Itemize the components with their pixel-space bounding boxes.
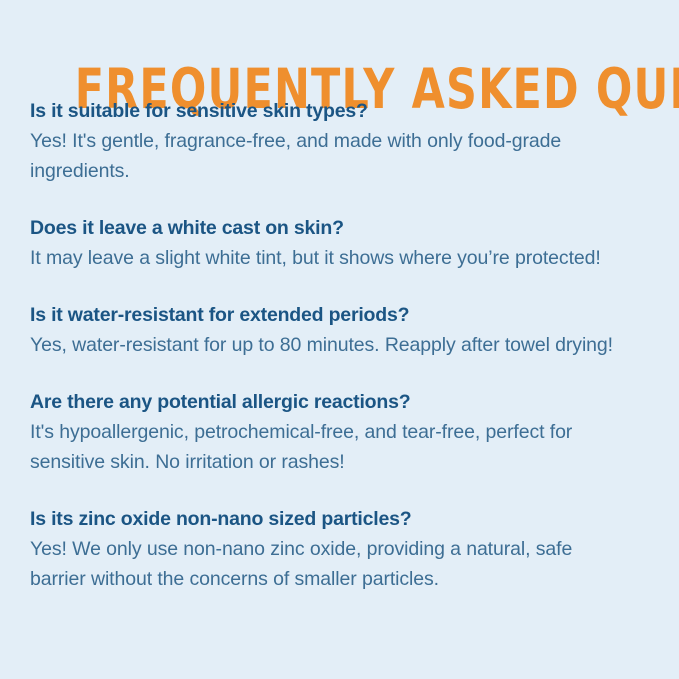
- faq-question: Is it suitable for sensitive skin types?: [30, 96, 630, 126]
- faq-answer: Yes! It's gentle, fragrance-free, and ma…: [30, 126, 630, 186]
- faq-page: Frequently Asked Questions Is it suitabl…: [0, 0, 679, 679]
- faq-item: Is it suitable for sensitive skin types?…: [30, 96, 630, 186]
- faq-item: Does it leave a white cast on skin? It m…: [30, 213, 630, 273]
- faq-item: Are there any potential allergic reactio…: [30, 387, 630, 477]
- faq-question: Is it water-resistant for extended perio…: [30, 300, 630, 330]
- faq-answer: Yes, water-resistant for up to 80 minute…: [30, 330, 630, 360]
- faq-answer: It's hypoallergenic, petrochemical-free,…: [30, 417, 630, 477]
- faq-list: Is it suitable for sensitive skin types?…: [30, 96, 630, 594]
- faq-answer: It may leave a slight white tint, but it…: [30, 243, 630, 273]
- faq-answer: Yes! We only use non-nano zinc oxide, pr…: [30, 534, 630, 594]
- faq-question: Is its zinc oxide non-nano sized particl…: [30, 504, 630, 534]
- faq-item: Is its zinc oxide non-nano sized particl…: [30, 504, 630, 594]
- faq-question: Does it leave a white cast on skin?: [30, 213, 630, 243]
- faq-item: Is it water-resistant for extended perio…: [30, 300, 630, 360]
- faq-question: Are there any potential allergic reactio…: [30, 387, 630, 417]
